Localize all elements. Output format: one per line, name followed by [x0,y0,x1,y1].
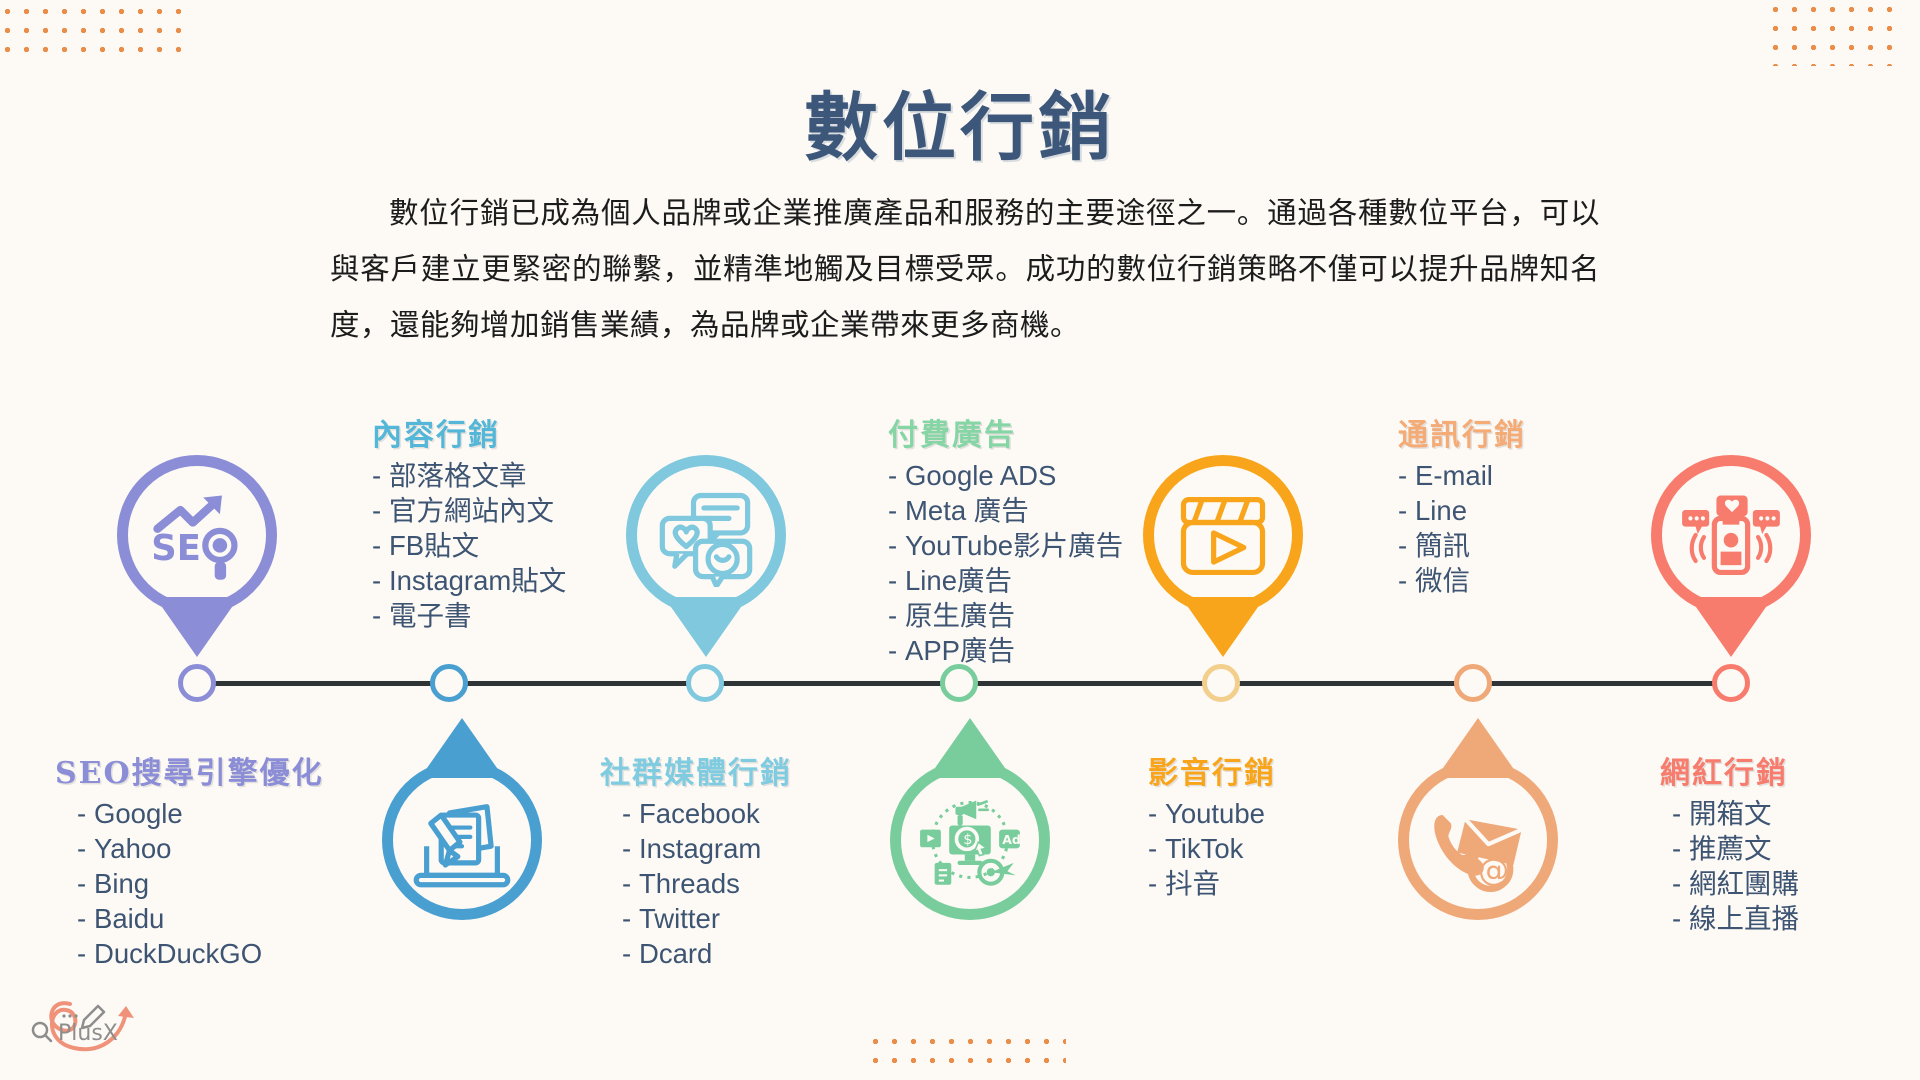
dot-pattern-bottom-center-decoration [866,1032,1066,1072]
section-list-social: -Facebook -Instagram -Threads -Twitter -… [600,796,792,971]
list-item: -開箱文 [1672,796,1799,831]
svg-text:SE: SE [151,528,201,569]
list-item: -Threads [622,866,792,901]
section-list-seo: -Google -Yahoo -Bing -Baidu -DuckDuckGO [55,796,324,971]
page-title: 數位行銷 [0,68,1920,175]
section-list-influencer: -開箱文 -推薦文 -網紅團購 -線上直播 [1660,796,1799,936]
marker-tail-video [1181,597,1265,657]
timeline-node-seo[interactable] [178,664,216,702]
timeline-node-social[interactable] [686,664,724,702]
smartphone-livestream-icon [1679,483,1783,587]
list-item: -Line [1398,493,1526,528]
svg-text:@: @ [1478,853,1509,889]
section-block-messaging: 通訊行銷 -E-mail -Line -簡訊 -微信 [1398,410,1526,598]
section-title-messaging: 通訊行銷 [1398,410,1526,454]
marker-tail-seo [155,597,239,657]
section-block-social: 社群媒體行銷 -Facebook -Instagram -Threads -Tw… [600,748,792,971]
list-item: -Instagram貼文 [372,563,566,598]
section-title-content: 內容行銷 [372,410,566,454]
section-title-video: 影音行銷 [1148,748,1276,792]
list-item: -Google ADS [888,458,1123,493]
list-item: -E-mail [1398,458,1526,493]
plusx-logo[interactable]: PlusX [22,990,172,1060]
list-item: -Twitter [622,901,792,936]
section-title-seo: SEO搜尋引擎優化 [55,748,324,792]
list-item: -Line廣告 [888,563,1123,598]
list-item: -TikTok [1148,831,1276,866]
list-item: -Yahoo [77,831,324,866]
list-item: -Instagram [622,831,792,866]
list-item: -抖音 [1148,866,1276,901]
marker-tail-social [420,718,504,778]
list-item: -APP廣告 [888,633,1123,668]
section-list-video: -Youtube -TikTok -抖音 [1148,796,1276,901]
section-title-paid-ads: 付費廣告 [888,410,1123,454]
list-item: -線上直播 [1672,901,1799,936]
marker-seo[interactable]: SE [117,455,277,615]
svg-text:$: $ [963,831,972,848]
section-list-paid-ads: -Google ADS -Meta 廣告 -YouTube影片廣告 -Line廣… [888,458,1123,668]
marker-paid-ads[interactable]: $ Ad [890,760,1050,920]
list-item: -原生廣告 [888,598,1123,633]
marker-video[interactable] [1143,455,1303,615]
clapperboard-play-icon [1171,483,1275,587]
timeline-node-content[interactable] [430,664,468,702]
timeline-node-paid-ads[interactable] [940,664,978,702]
list-item: -Dcard [622,936,792,971]
ad-ecosystem-monitor-icon: $ Ad [918,788,1022,892]
list-item: -官方網站內文 [372,493,566,528]
marker-tail-paid-ads [928,718,1012,778]
section-list-messaging: -E-mail -Line -簡訊 -微信 [1398,458,1526,598]
list-item: -Meta 廣告 [888,493,1123,528]
list-item: -YouTube影片廣告 [888,528,1123,563]
section-block-seo: SEO搜尋引擎優化 -Google -Yahoo -Bing -Baidu -D… [55,748,324,971]
dot-pattern-top-left-decoration [0,2,184,64]
section-block-content: 內容行銷 -部落格文章 -官方網站內文 -FB貼文 -Instagram貼文 -… [372,410,566,633]
list-item: -Baidu [77,901,324,936]
marker-messaging[interactable]: @ [1398,760,1558,920]
list-item: -Google [77,796,324,831]
list-item: -Bing [77,866,324,901]
timeline-node-messaging[interactable] [1454,664,1492,702]
list-item: -DuckDuckGO [77,936,324,971]
phone-envelope-at-icon: @ [1426,788,1530,892]
seo-chart-magnifier-icon: SE [145,483,249,587]
timeline-node-influencer[interactable] [1712,664,1750,702]
list-item: -Facebook [622,796,792,831]
marker-influencer[interactable] [1651,455,1811,615]
list-item: -Youtube [1148,796,1276,831]
marker-tail-messaging [1436,718,1520,778]
section-title-influencer: 網紅行銷 [1660,748,1799,792]
intro-paragraph: 數位行銷已成為個人品牌或企業推廣產品和服務的主要途徑之一。通過各種數位平台，可以… [330,185,1600,353]
list-item: -微信 [1398,563,1526,598]
timeline-node-video[interactable] [1202,664,1240,702]
chat-bubbles-icon [654,483,758,587]
list-item: -FB貼文 [372,528,566,563]
section-title-social: 社群媒體行銷 [600,748,792,792]
plusx-logo-text: PlusX [58,1021,118,1046]
list-item: -推薦文 [1672,831,1799,866]
section-block-paid-ads: 付費廣告 -Google ADS -Meta 廣告 -YouTube影片廣告 -… [888,410,1123,668]
laptop-documents-pencil-icon [410,788,514,892]
marker-social[interactable] [382,760,542,920]
list-item: -部落格文章 [372,458,566,493]
section-block-video: 影音行銷 -Youtube -TikTok -抖音 [1148,748,1276,901]
dot-pattern-top-right-decoration [1766,0,1906,66]
list-item: -簡訊 [1398,528,1526,563]
marker-tail-content [664,597,748,657]
list-item: -電子書 [372,598,566,633]
section-list-content: -部落格文章 -官方網站內文 -FB貼文 -Instagram貼文 -電子書 [372,458,566,633]
marker-content[interactable] [626,455,786,615]
list-item: -網紅團購 [1672,866,1799,901]
svg-text:Ad: Ad [1002,832,1021,847]
infographic-canvas: 數位行銷 數位行銷已成為個人品牌或企業推廣產品和服務的主要途徑之一。通過各種數位… [0,0,1920,1080]
marker-tail-influencer [1689,597,1773,657]
section-block-influencer: 網紅行銷 -開箱文 -推薦文 -網紅團購 -線上直播 [1660,748,1799,936]
